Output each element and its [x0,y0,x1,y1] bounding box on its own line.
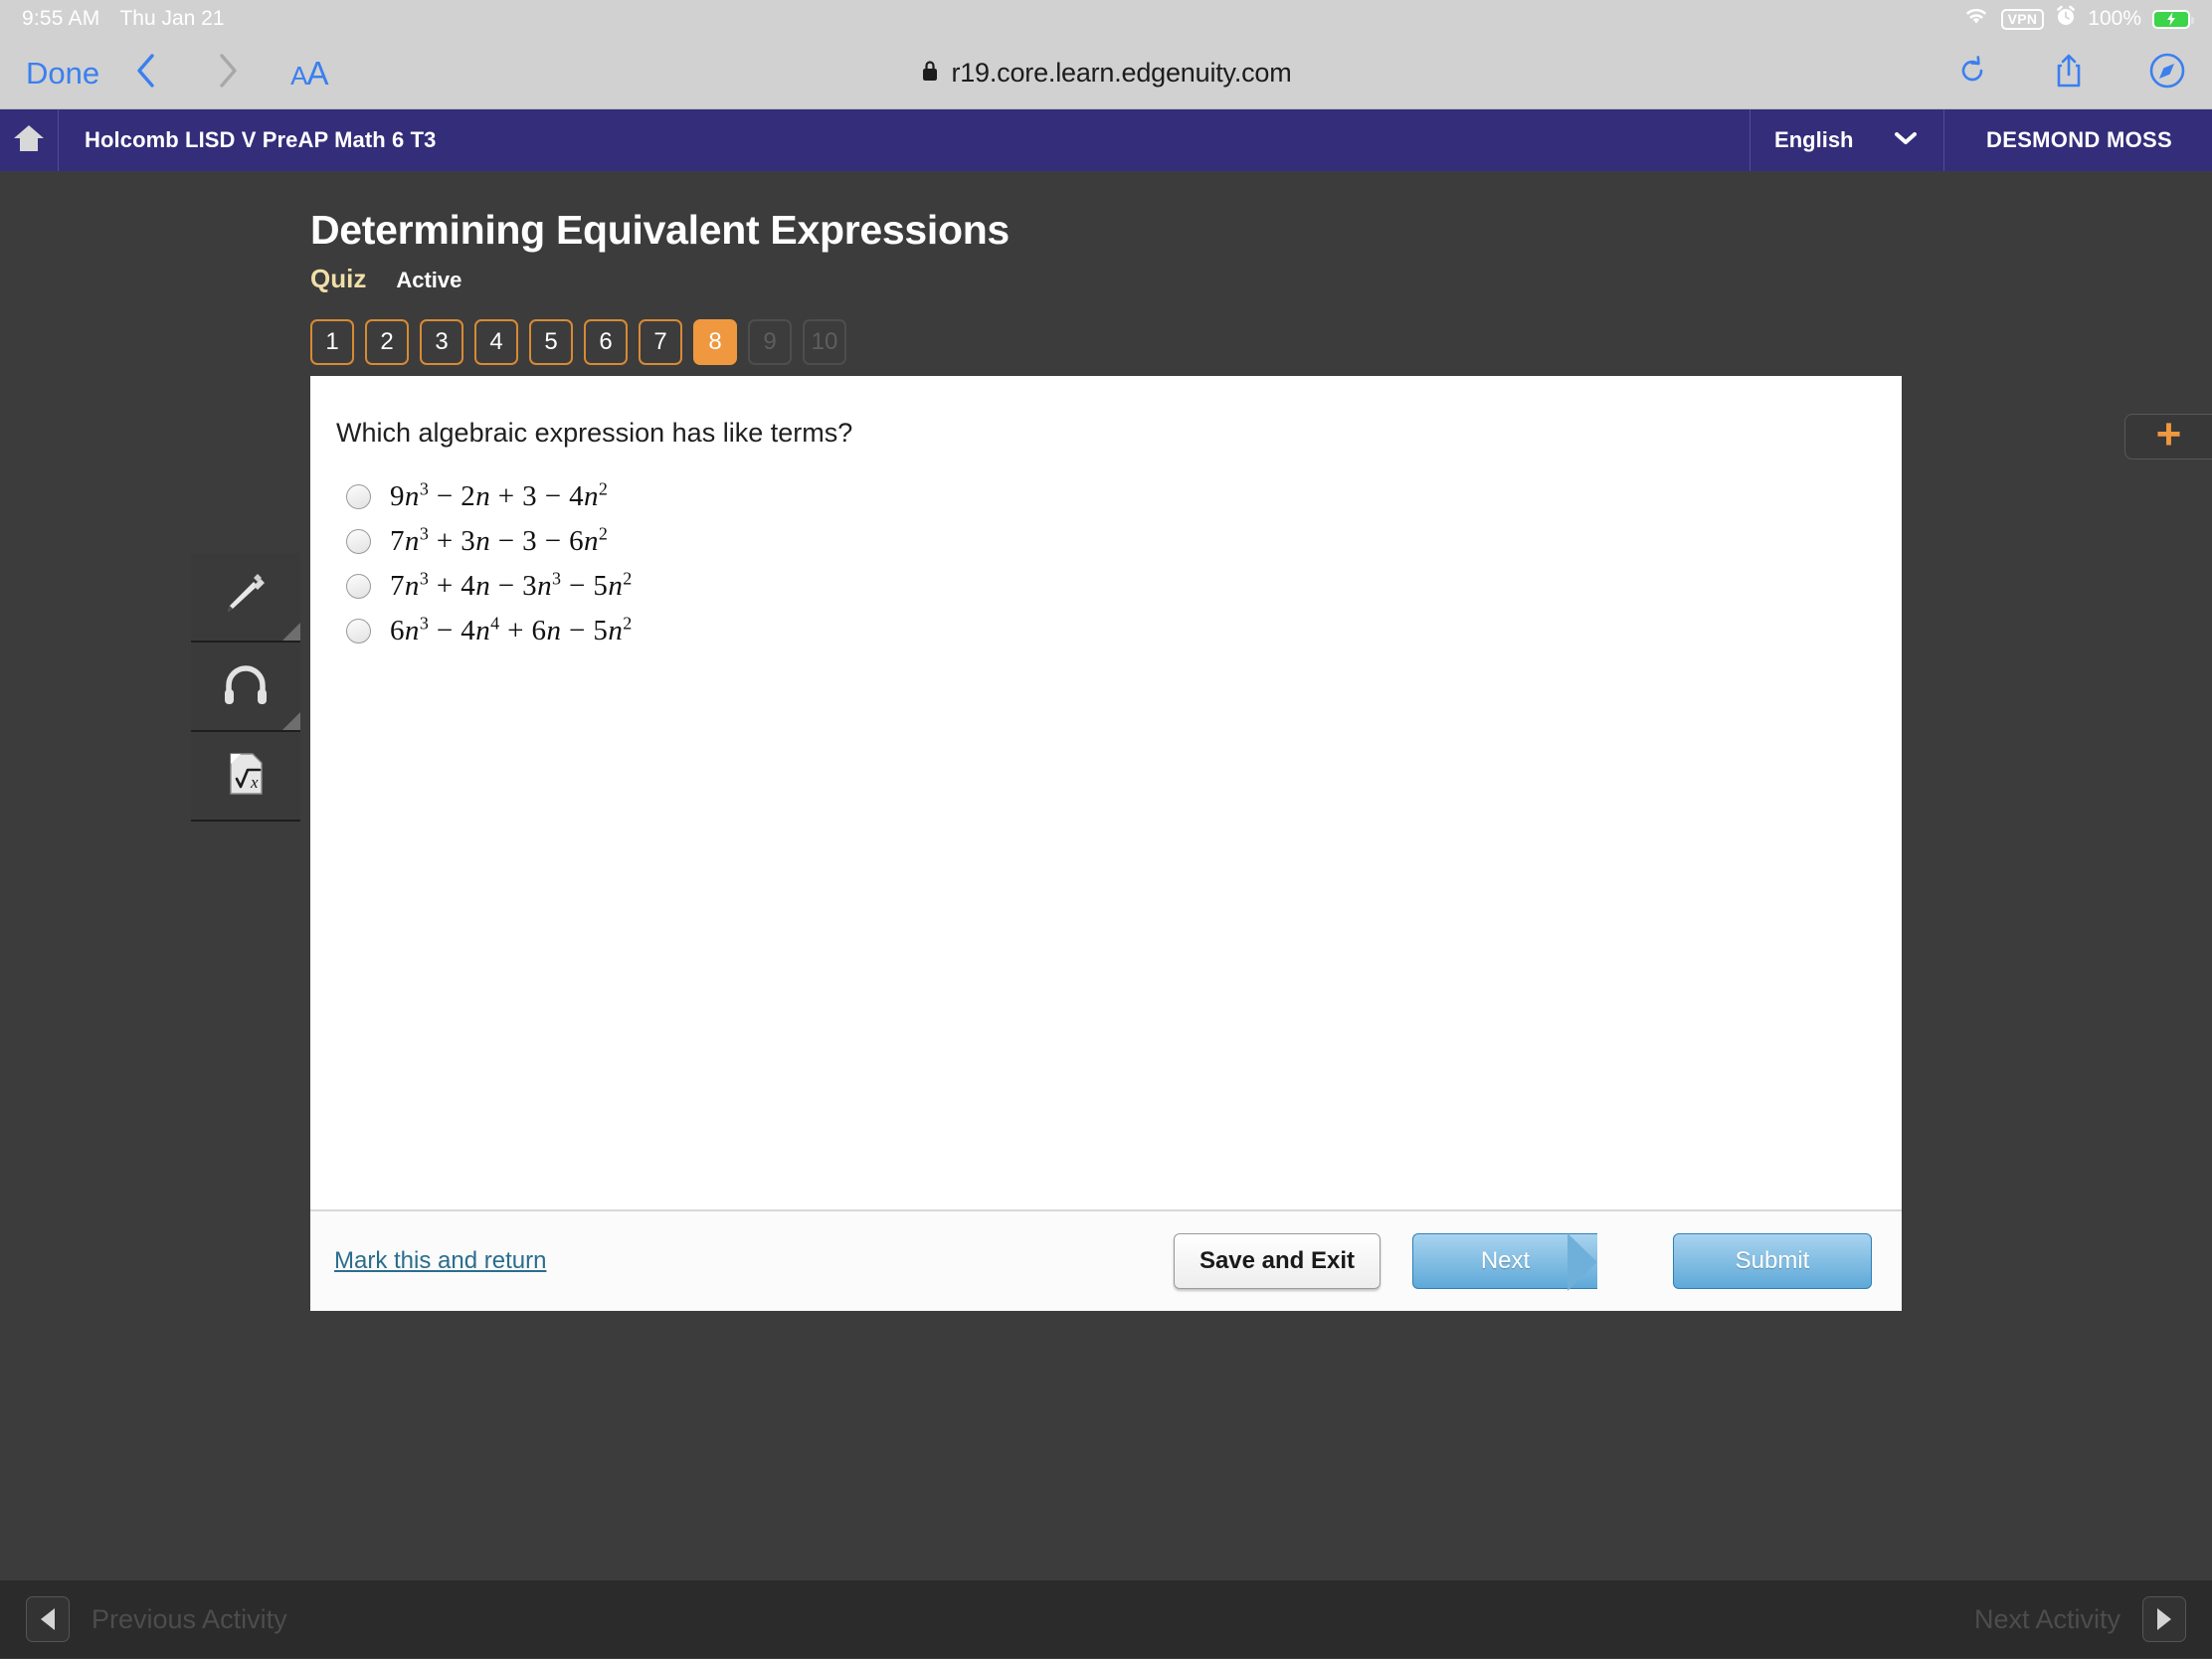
course-title-wrap: Holcomb LISD V PreAP Math 6 T3 [59,109,1750,171]
pencil-icon [217,569,275,626]
quiz-body: Which algebraic expression has like term… [310,376,1902,1209]
plus-icon: + [2156,413,2182,457]
home-button[interactable] [0,109,59,171]
tool-rail: x [191,553,300,822]
status-date: Thu Jan 21 [119,7,224,31]
question-nav-item-4[interactable]: 4 [474,319,518,365]
question-nav-item-9: 9 [748,319,792,365]
lock-icon [920,59,940,88]
highlighter-tool[interactable] [191,553,300,643]
svg-text:x: x [250,773,259,792]
lesson-content: Determining Equivalent Expressions Quiz … [310,207,1902,1311]
battery-icon [2152,10,2190,29]
safari-toolbar: Done AA r19.core.learn.edgenuity.com [0,38,2212,109]
browser-nav-buttons [133,51,241,95]
triangle-left-icon [41,1608,55,1630]
reload-icon[interactable] [1955,54,1989,92]
chevron-down-icon [1894,130,1918,151]
course-title: Holcomb LISD V PreAP Math 6 T3 [85,127,436,153]
question-nav-item-2[interactable]: 2 [365,319,409,365]
question-nav-item-6[interactable]: 6 [584,319,628,365]
triangle-right-icon [2157,1608,2171,1630]
battery-percent: 100% [2088,7,2141,31]
language-selector[interactable]: English [1750,109,1944,171]
headphones-icon [218,660,274,713]
next-button-wrap: Next [1412,1233,1641,1289]
audio-tool[interactable] [191,643,300,732]
previous-activity[interactable]: Previous Activity [26,1596,287,1642]
chevron-right-icon [215,51,241,95]
question-nav-item-1[interactable]: 1 [310,319,354,365]
formula-sheet-tool[interactable]: x [191,732,300,822]
add-button[interactable]: + [2124,414,2212,460]
status-bar-right: VPN 100% [1962,5,2190,33]
radio-button-c[interactable] [346,574,371,599]
home-icon [12,122,46,159]
radio-button-b[interactable] [346,529,371,554]
previous-activity-label: Previous Activity [92,1604,287,1635]
radio-button-d[interactable] [346,619,371,644]
safari-right-actions [1955,52,2186,94]
status-time: 9:55 AM [22,7,99,31]
answer-choice-d[interactable]: 6n3 − 4n4 + 6n − 5n2 [334,615,1902,647]
next-activity-label: Next Activity [1974,1604,2120,1635]
address-bar[interactable]: r19.core.learn.edgenuity.com [0,58,2212,89]
ios-status-bar: 9:55 AM Thu Jan 21 VPN 100% [0,0,2212,38]
question-nav-item-8[interactable]: 8 [693,319,737,365]
activity-bar: Previous Activity Next Activity [0,1580,2212,1658]
lesson-type: Quiz [310,264,366,294]
radio-button-a[interactable] [346,484,371,509]
wifi-icon [1962,6,1990,32]
expression-c: 7n3 + 4n − 3n3 − 5n2 [390,570,633,603]
user-name: DESMOND MOSS [1986,127,2172,153]
lesson-subheader: Quiz Active [310,264,1902,294]
next-arrow-icon [1567,1233,1597,1291]
answer-choice-b[interactable]: 7n3 + 3n − 3 − 6n2 [334,525,1902,558]
math-sheet-icon: x [218,746,274,807]
question-nav-item-7[interactable]: 7 [639,319,682,365]
submit-button[interactable]: Submit [1673,1233,1872,1289]
previous-activity-button[interactable] [26,1596,70,1642]
next-activity-button[interactable] [2142,1596,2186,1642]
expression-d: 6n3 − 4n4 + 6n − 5n2 [390,615,633,647]
safari-compass-icon[interactable] [2148,52,2186,94]
quiz-card: Which algebraic expression has like term… [310,376,1902,1311]
app-header: Holcomb LISD V PreAP Math 6 T3 English D… [0,109,2212,171]
done-button[interactable]: Done [26,56,99,92]
alarm-icon [2055,5,2077,33]
text-size-button[interactable]: AA [290,55,327,92]
next-activity[interactable]: Next Activity [1974,1596,2186,1642]
language-label: English [1774,127,1853,153]
question-nav: 12345678910 [310,319,1902,365]
question-nav-item-3[interactable]: 3 [420,319,463,365]
footer-actions: Save and Exit Next Submit [1174,1233,1872,1289]
mark-and-return-link[interactable]: Mark this and return [334,1247,546,1275]
expression-a: 9n3 − 2n + 3 − 4n2 [390,480,608,513]
status-bar-left: 9:55 AM Thu Jan 21 [22,7,225,31]
answer-choices: 9n3 − 2n + 3 − 4n27n3 + 3n − 3 − 6n27n3 … [334,480,1902,647]
lesson-state: Active [396,268,461,293]
url-text: r19.core.learn.edgenuity.com [951,58,1291,89]
expression-b: 7n3 + 3n − 3 − 6n2 [390,525,608,558]
page-body: + [0,171,2212,1658]
user-menu[interactable]: DESMOND MOSS [1944,109,2212,171]
question-nav-item-5[interactable]: 5 [529,319,573,365]
page-title: Determining Equivalent Expressions [310,207,1902,254]
answer-choice-c[interactable]: 7n3 + 4n − 3n3 − 5n2 [334,570,1902,603]
share-icon[interactable] [2052,52,2086,94]
vpn-badge: VPN [2001,9,2045,30]
answer-choice-a[interactable]: 9n3 − 2n + 3 − 4n2 [334,480,1902,513]
question-text: Which algebraic expression has like term… [336,418,1902,449]
question-nav-item-10: 10 [803,319,846,365]
chevron-left-icon[interactable] [133,51,159,95]
quiz-footer: Mark this and return Save and Exit Next … [310,1209,1902,1311]
save-and-exit-button[interactable]: Save and Exit [1174,1233,1381,1289]
